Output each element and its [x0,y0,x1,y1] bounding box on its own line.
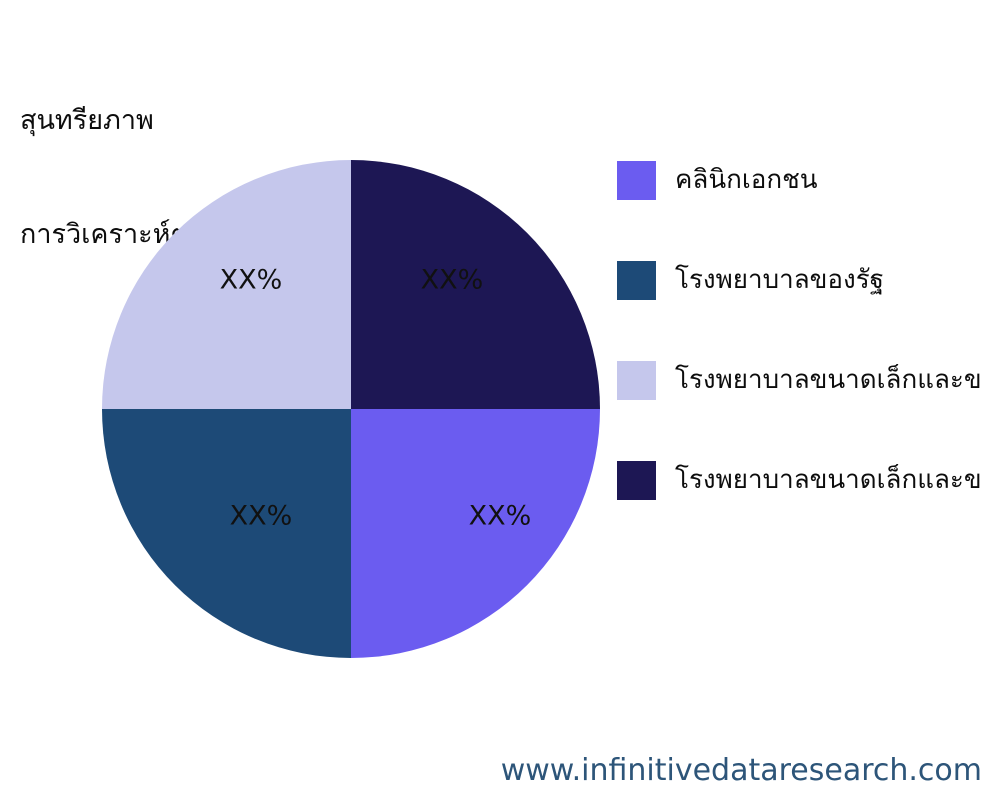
legend-label-3: โรงพยาบาลขนาดเล็กและข [675,460,982,500]
pie-svg: XX% XX% XX% XX% [102,160,600,658]
legend-label-0: คลินิกเอกชน [675,160,818,200]
pie-label-top-left: XX% [220,265,283,296]
legend-item-2[interactable]: โรงพยาบาลขนาดเล็กและข [617,360,1000,400]
legend-swatch-icon-1 [617,261,656,300]
footer-website-url[interactable]: www.infinitivedataresearch.com [501,753,982,788]
legend-swatch-icon-0 [617,161,656,200]
chart-title-line-1: สุนทรียภาพ [20,102,640,140]
legend-item-3[interactable]: โรงพยาบาลขนาดเล็กและข [617,460,1000,500]
legend-item-0[interactable]: คลินิกเอกชน [617,160,1000,200]
pie-chart-figure: สุนทรียภาพ การวิเคราะห์ตลาดตามแอปพลิเคชั… [0,0,1000,800]
pie-graphic: XX% XX% XX% XX% [102,160,600,658]
pie-slice-bottom-right[interactable] [351,409,600,658]
pie-label-bottom-right: XX% [469,501,532,532]
chart-legend: คลินิกเอกชน โรงพยาบาลของรัฐ โรงพยาบาลขนา… [617,160,1000,520]
pie-label-bottom-left: XX% [230,501,293,532]
legend-label-1: โรงพยาบาลของรัฐ [675,260,884,300]
legend-swatch-icon-2 [617,361,656,400]
pie-slice-bottom-left[interactable] [102,409,351,658]
legend-label-2: โรงพยาบาลขนาดเล็กและข [675,360,982,400]
legend-item-1[interactable]: โรงพยาบาลของรัฐ [617,260,1000,300]
legend-swatch-icon-3 [617,461,656,500]
pie-label-top-right: XX% [421,265,484,296]
